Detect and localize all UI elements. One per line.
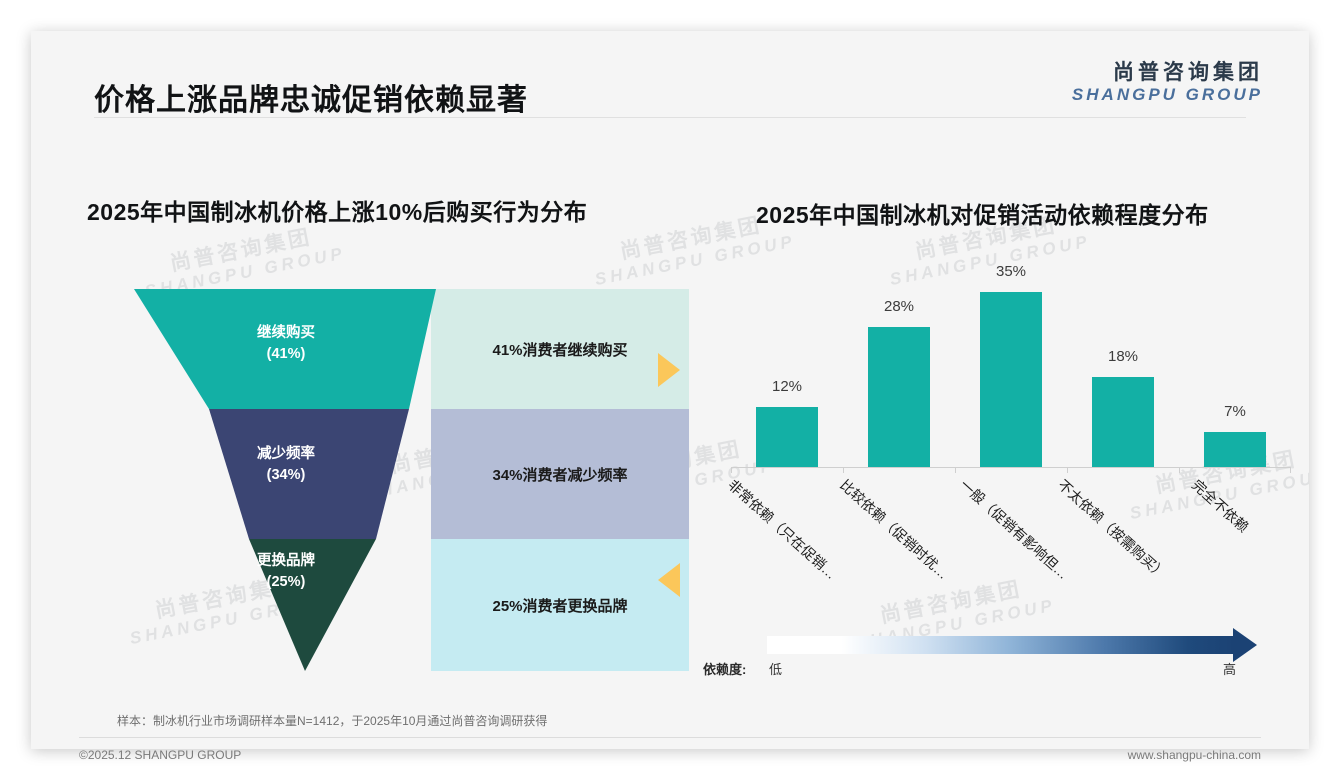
- funnel-segment-value-2: (34%): [236, 465, 336, 486]
- legend-low-label: 低: [769, 659, 782, 678]
- left-chart-title: 2025年中国制冰机价格上涨10%后购买行为分布: [87, 193, 587, 227]
- axis-tick: [731, 467, 732, 473]
- bar-value-2: 28%: [884, 298, 914, 315]
- legend-title: 依赖度:: [703, 659, 746, 678]
- slide-header: 价格上涨品牌忠诚促销依赖显著 尚普咨询集团 SHANGPU GROUP: [31, 31, 1309, 115]
- funnel-segment-name-1: 继续购买: [236, 323, 336, 344]
- right-chart-title: 2025年中国制冰机对促销活动依赖程度分布: [756, 196, 1209, 230]
- brand-logo: 尚普咨询集团 SHANGPU GROUP: [1072, 61, 1263, 106]
- footer-copyright: ©2025.12 SHANGPU GROUP: [79, 748, 241, 762]
- bar-5[interactable]: [1204, 432, 1266, 467]
- bar-slot-1: 12%: [731, 267, 843, 467]
- footer-website[interactable]: www.shangpu-china.com: [1128, 748, 1261, 762]
- funnel-segment-label-1: 继续购买 (41%): [236, 323, 336, 365]
- bar-4[interactable]: [1092, 377, 1154, 467]
- funnel-chart: 41%消费者继续购买 34%消费者减少频率 25%消费者更换品牌 继续购买 (4…: [91, 281, 691, 681]
- bar-value-1: 12%: [772, 378, 802, 395]
- bar-3[interactable]: [980, 292, 1042, 467]
- bar-slot-2: 28%: [843, 267, 955, 467]
- gradient-arrow-icon: [1233, 628, 1257, 662]
- source-footnote: 样本：制冰机行业市场调研样本量N=1412，于2025年10月通过尚普咨询调研获…: [117, 712, 547, 729]
- x-axis-label-1: 非常依赖（只在促销…: [724, 475, 841, 584]
- footer-divider: [79, 737, 1261, 738]
- gradient-bar: [767, 636, 1235, 654]
- bar-value-3: 35%: [996, 263, 1026, 280]
- bar-slot-5: 7%: [1179, 267, 1291, 467]
- funnel-segment-name-3: 更换品牌: [236, 551, 336, 572]
- slide-card: 尚普咨询集团 SHANGPU GROUP 尚普咨询集团 SHANGPU GROU…: [31, 31, 1309, 749]
- funnel-segment-value-3: (25%): [236, 572, 336, 593]
- axis-tick: [1179, 467, 1180, 473]
- axis-tick: [843, 467, 844, 473]
- axis-tick: [955, 467, 956, 473]
- dependency-bar-chart: 12% 28% 35% 18% 7%: [731, 267, 1291, 627]
- axis-tick: [1290, 467, 1291, 473]
- funnel-segment-name-2: 减少频率: [236, 444, 336, 465]
- bar-value-4: 18%: [1108, 348, 1138, 365]
- bar-slot-3: 35%: [955, 267, 1067, 467]
- bar-2[interactable]: [868, 327, 930, 467]
- watermark-cn: 尚普咨询集团: [139, 220, 344, 283]
- x-axis-label-5: 完全不依赖: [1188, 475, 1253, 537]
- bar-1[interactable]: [756, 407, 818, 467]
- funnel-segment-label-3: 更换品牌 (25%): [236, 551, 336, 593]
- bar-plot-area: 12% 28% 35% 18% 7%: [731, 267, 1291, 467]
- funnel-segment-value-1: (41%): [236, 344, 336, 365]
- funnel-shape: [91, 281, 691, 681]
- arrow-right-icon: [658, 353, 680, 387]
- dependency-gradient-legend: 依赖度: 低 高: [703, 629, 1283, 685]
- arrow-left-icon: [658, 563, 680, 597]
- logo-text-en: SHANGPU GROUP: [1072, 85, 1263, 105]
- bar-value-5: 7%: [1224, 403, 1246, 420]
- axis-tick: [1067, 467, 1068, 473]
- page-title: 价格上涨品牌忠诚促销依赖显著: [94, 75, 528, 119]
- bar-slot-4: 18%: [1067, 267, 1179, 467]
- funnel-segment-label-2: 减少频率 (34%): [236, 444, 336, 486]
- x-axis-label-2: 比较依赖（促销时优…: [836, 475, 953, 584]
- x-axis-line: [731, 467, 1291, 468]
- legend-high-label: 高: [1223, 659, 1236, 678]
- logo-text-cn: 尚普咨询集团: [1072, 61, 1263, 85]
